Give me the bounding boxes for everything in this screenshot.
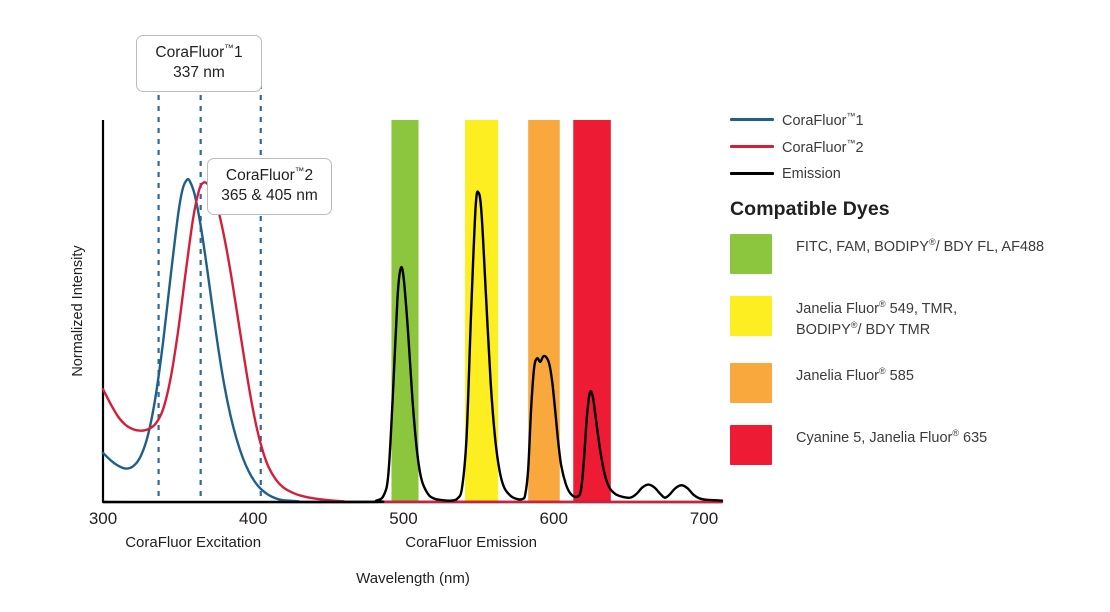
x-tick-label-400: 400 bbox=[239, 509, 267, 528]
legend-line-icon bbox=[730, 118, 774, 121]
compatible-dyes-title: Compatible Dyes bbox=[730, 198, 890, 221]
dye-item-2: Janelia Fluor® 585 bbox=[730, 363, 1105, 403]
y-axis-title: Normalized Intensity bbox=[70, 245, 86, 377]
registered-mark: ® bbox=[929, 237, 936, 247]
red-band bbox=[573, 120, 611, 502]
callout1-line2: 337 nm bbox=[173, 64, 225, 81]
legend-line-icon bbox=[730, 145, 774, 148]
x-axis-title: Wavelength (nm) bbox=[356, 570, 470, 587]
dye-item-label: Janelia Fluor® 585 bbox=[796, 363, 914, 386]
x-tick-label-300: 300 bbox=[89, 509, 117, 528]
legend-item-1: CoraFluor™2 bbox=[730, 133, 1105, 160]
x-tick-label-500: 500 bbox=[389, 509, 417, 528]
corafluor2-callout: CoraFluor™2 365 & 405 nm bbox=[207, 158, 332, 215]
x-tick-label-700: 700 bbox=[690, 509, 718, 528]
registered-mark: ® bbox=[879, 366, 886, 376]
dye-item-1: Janelia Fluor® 549, TMR,BODIPY®/ BDY TMR bbox=[730, 296, 1105, 341]
green-band bbox=[391, 120, 418, 502]
callout1-line1: CoraFluor™1 bbox=[155, 44, 242, 61]
emission-band-layer bbox=[391, 120, 610, 502]
spectra-figure: 300400500600700CoraFluor ExcitationCoraF… bbox=[0, 0, 1110, 612]
dye-color-swatch bbox=[730, 363, 772, 403]
legend-line-swatch-1 bbox=[730, 145, 782, 148]
registered-mark: ® bbox=[851, 320, 858, 330]
trademark-mark: ™ bbox=[846, 111, 855, 121]
legend-item-0: CoraFluor™1 bbox=[730, 106, 1105, 133]
dye-color-swatch bbox=[730, 425, 772, 465]
dye-color-swatch bbox=[730, 234, 772, 274]
legend-item-label: Emission bbox=[782, 166, 841, 182]
callout2-line2: 365 & 405 nm bbox=[221, 187, 318, 204]
x-tick-label-600: 600 bbox=[540, 509, 568, 528]
registered-mark: ® bbox=[879, 299, 886, 309]
registered-mark: ® bbox=[952, 428, 959, 438]
legend-item-label: CoraFluor™2 bbox=[782, 138, 864, 156]
legend-item-2: Emission bbox=[730, 160, 1105, 187]
orange-band bbox=[528, 120, 560, 502]
legend-line-swatch-2 bbox=[730, 172, 782, 175]
series-legend: CoraFluor™1CoraFluor™2Emission bbox=[730, 106, 1105, 187]
dye-item-0: FITC, FAM, BODIPY®/ BDY FL, AF488 bbox=[730, 234, 1105, 274]
corafluor1-callout: CoraFluor™1 337 nm bbox=[136, 35, 262, 92]
dye-item-label: FITC, FAM, BODIPY®/ BDY FL, AF488 bbox=[796, 234, 1044, 257]
dye-item-3: Cyanine 5, Janelia Fluor® 635 bbox=[730, 425, 1105, 465]
trademark-mark: ™ bbox=[846, 138, 855, 148]
legend-line-icon bbox=[730, 172, 774, 175]
legend-line-swatch-0 bbox=[730, 118, 782, 121]
axis-section-label-0: CoraFluor Excitation bbox=[125, 534, 261, 551]
axis-section-label-1: CoraFluor Emission bbox=[405, 534, 537, 551]
legend-item-label: CoraFluor™1 bbox=[782, 111, 864, 129]
compatible-dyes-list: FITC, FAM, BODIPY®/ BDY FL, AF488Janelia… bbox=[730, 234, 1105, 487]
dye-item-label: Cyanine 5, Janelia Fluor® 635 bbox=[796, 425, 987, 448]
callout2-line1: CoraFluor™2 bbox=[226, 167, 313, 184]
dye-color-swatch bbox=[730, 296, 772, 336]
dye-item-label: Janelia Fluor® 549, TMR,BODIPY®/ BDY TMR bbox=[796, 296, 957, 341]
